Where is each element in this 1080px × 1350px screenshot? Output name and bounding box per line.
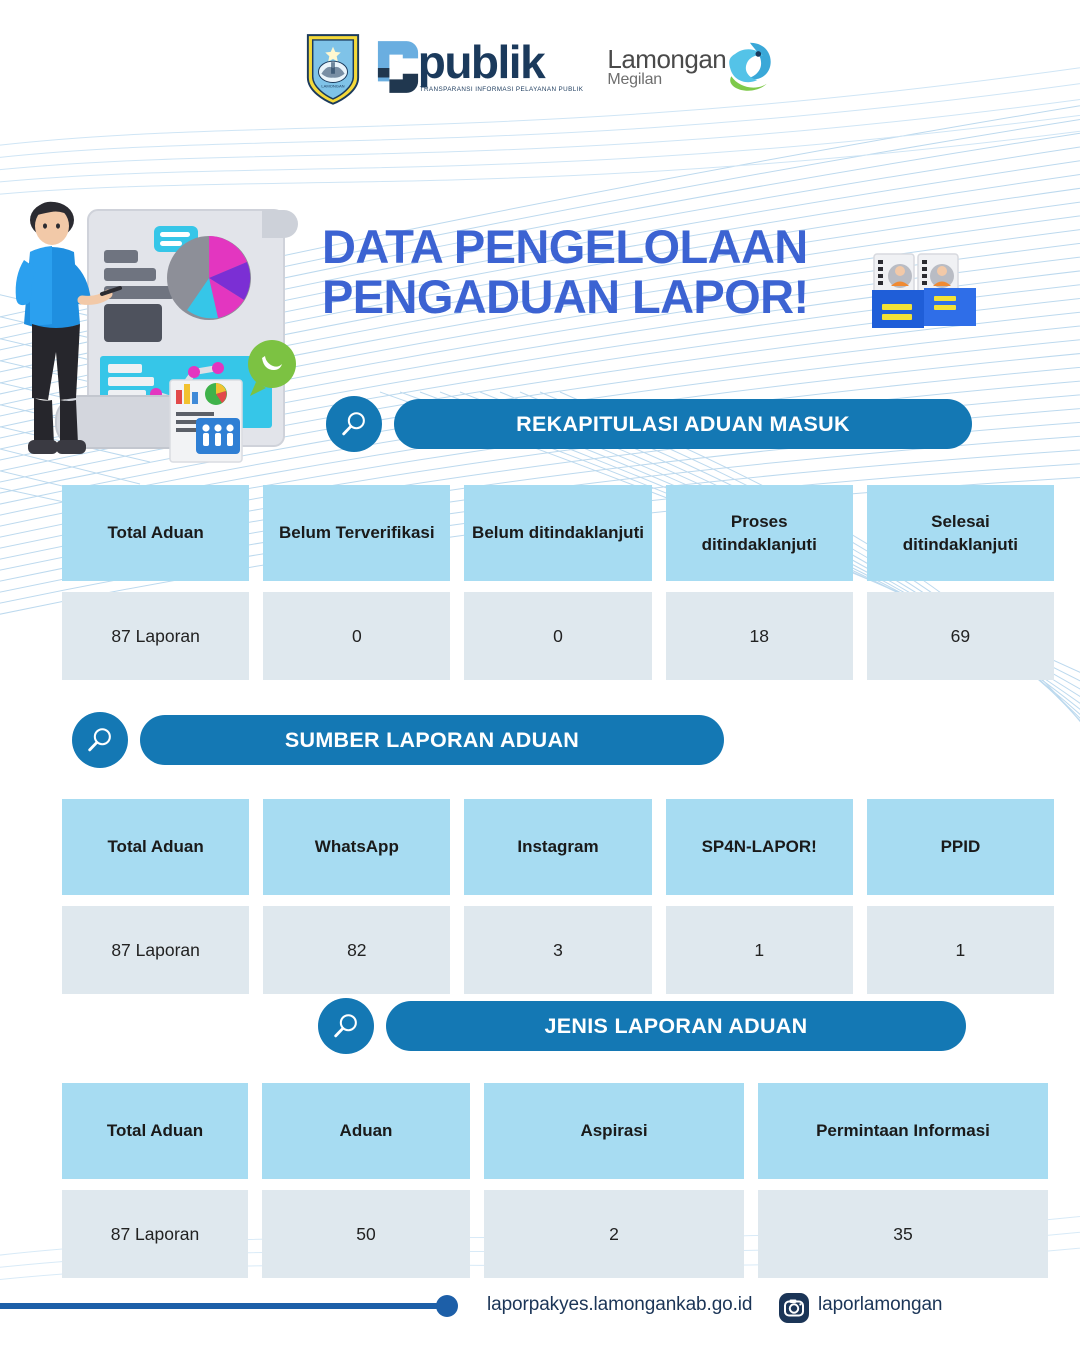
table-rekapitulasi-aduan-masuk: Total Aduan Belum Terverifikasi Belum di… [62, 485, 1054, 680]
instagram-icon[interactable] [779, 1293, 809, 1323]
table-header-cell: Aduan [262, 1083, 470, 1179]
section-banner-label: JENIS LAPORAN ADUAN [386, 1001, 966, 1051]
table-value-cell: 3 [464, 906, 651, 994]
section-banner-label: REKAPITULASI ADUAN MASUK [394, 399, 972, 449]
table-jenis-laporan-aduan: Total Aduan Aduan Aspirasi Permintaan In… [62, 1083, 1054, 1278]
publik-logo: publik TRANSPARANSI INFORMASI PELAYANAN … [376, 39, 584, 95]
table-header-cell: Aspirasi [484, 1083, 744, 1179]
table-value-cell: 69 [867, 592, 1054, 680]
table-value-cell: 1 [867, 906, 1054, 994]
table-header-row: Total Aduan Belum Terverifikasi Belum di… [62, 485, 1054, 581]
publik-wordmark: publik [418, 41, 584, 85]
table-header-cell: Total Aduan [62, 799, 249, 895]
man-with-data-scroll-illustration [4, 168, 324, 478]
footer-accent-line [0, 1303, 452, 1309]
lamongan-wordmark: Lamongan [607, 46, 726, 72]
svg-text:LAMONGAN: LAMONGAN [321, 83, 344, 88]
table-value-cell: 0 [263, 592, 450, 680]
table-header-cell: WhatsApp [263, 799, 450, 895]
lamongan-regency-crest-icon: LAMONGAN [304, 29, 362, 105]
footer-website-text[interactable]: laporpakyes.lamongankab.go.id [487, 1294, 752, 1316]
table-value-cell: 87 Laporan [62, 906, 249, 994]
table-header-cell: Total Aduan [62, 485, 249, 581]
table-header-row: Total Aduan WhatsApp Instagram SP4N-LAPO… [62, 799, 1054, 895]
magnifier-icon [72, 712, 128, 768]
table-header-cell: Belum ditindaklanjuti [464, 485, 651, 581]
magnifier-icon [326, 396, 382, 452]
footer-instagram-handle[interactable]: laporlamongan [818, 1294, 942, 1316]
table-header-cell: Belum Terverifikasi [263, 485, 450, 581]
table-value-cell: 1 [666, 906, 853, 994]
table-header-cell: Total Aduan [62, 1083, 248, 1179]
page-title-line2: PENGADUAN LAPOR! [322, 272, 882, 322]
table-header-row: Total Aduan Aduan Aspirasi Permintaan In… [62, 1083, 1054, 1179]
section-banner-rekapitulasi: REKAPITULASI ADUAN MASUK [326, 396, 972, 452]
section-banner-label: SUMBER LAPORAN ADUAN [140, 715, 724, 765]
table-header-cell: Permintaan Informasi [758, 1083, 1048, 1179]
id-cards-icon [866, 252, 984, 338]
table-row: 87 Laporan 50 2 35 [62, 1190, 1054, 1278]
table-header-cell: SP4N-LAPOR! [666, 799, 853, 895]
publik-tagline: TRANSPARANSI INFORMASI PELAYANAN PUBLIK [420, 86, 584, 93]
table-header-cell: PPID [867, 799, 1054, 895]
footer-accent-dot [436, 1295, 458, 1317]
table-value-cell: 87 Laporan [62, 592, 249, 680]
table-value-cell: 18 [666, 592, 853, 680]
publik-mark-icon [376, 39, 420, 95]
section-banner-sumber-laporan: SUMBER LAPORAN ADUAN [72, 712, 724, 768]
table-value-cell: 0 [464, 592, 651, 680]
table-row: 87 Laporan 0 0 18 69 [62, 592, 1054, 680]
table-value-cell: 50 [262, 1190, 470, 1278]
table-header-cell: Proses ditindaklanjuti [666, 485, 853, 581]
infographic-page: LAMONGAN publik TRANSPARANSI INFORMASI P… [0, 0, 1080, 1350]
table-value-cell: 82 [263, 906, 450, 994]
page-title-line1: DATA PENGELOLAAN [322, 220, 808, 273]
lamongan-megilan-logo: Lamongan Megilan [607, 38, 776, 96]
table-value-cell: 2 [484, 1190, 744, 1278]
table-header-cell: Instagram [464, 799, 651, 895]
logo-bar: LAMONGAN publik TRANSPARANSI INFORMASI P… [0, 26, 1080, 108]
table-sumber-laporan-aduan: Total Aduan WhatsApp Instagram SP4N-LAPO… [62, 799, 1054, 994]
page-title: DATA PENGELOLAAN PENGADUAN LAPOR! [322, 222, 882, 322]
table-row: 87 Laporan 82 3 1 1 [62, 906, 1054, 994]
table-value-cell: 87 Laporan [62, 1190, 248, 1278]
table-header-cell: Selesai ditindaklanjuti [867, 485, 1054, 581]
magnifier-icon [318, 998, 374, 1054]
section-banner-jenis-laporan: JENIS LAPORAN ADUAN [318, 998, 966, 1054]
megilan-wordmark: Megilan [607, 72, 726, 88]
table-value-cell: 35 [758, 1190, 1048, 1278]
lamongan-fish-swirl-icon [722, 38, 776, 96]
